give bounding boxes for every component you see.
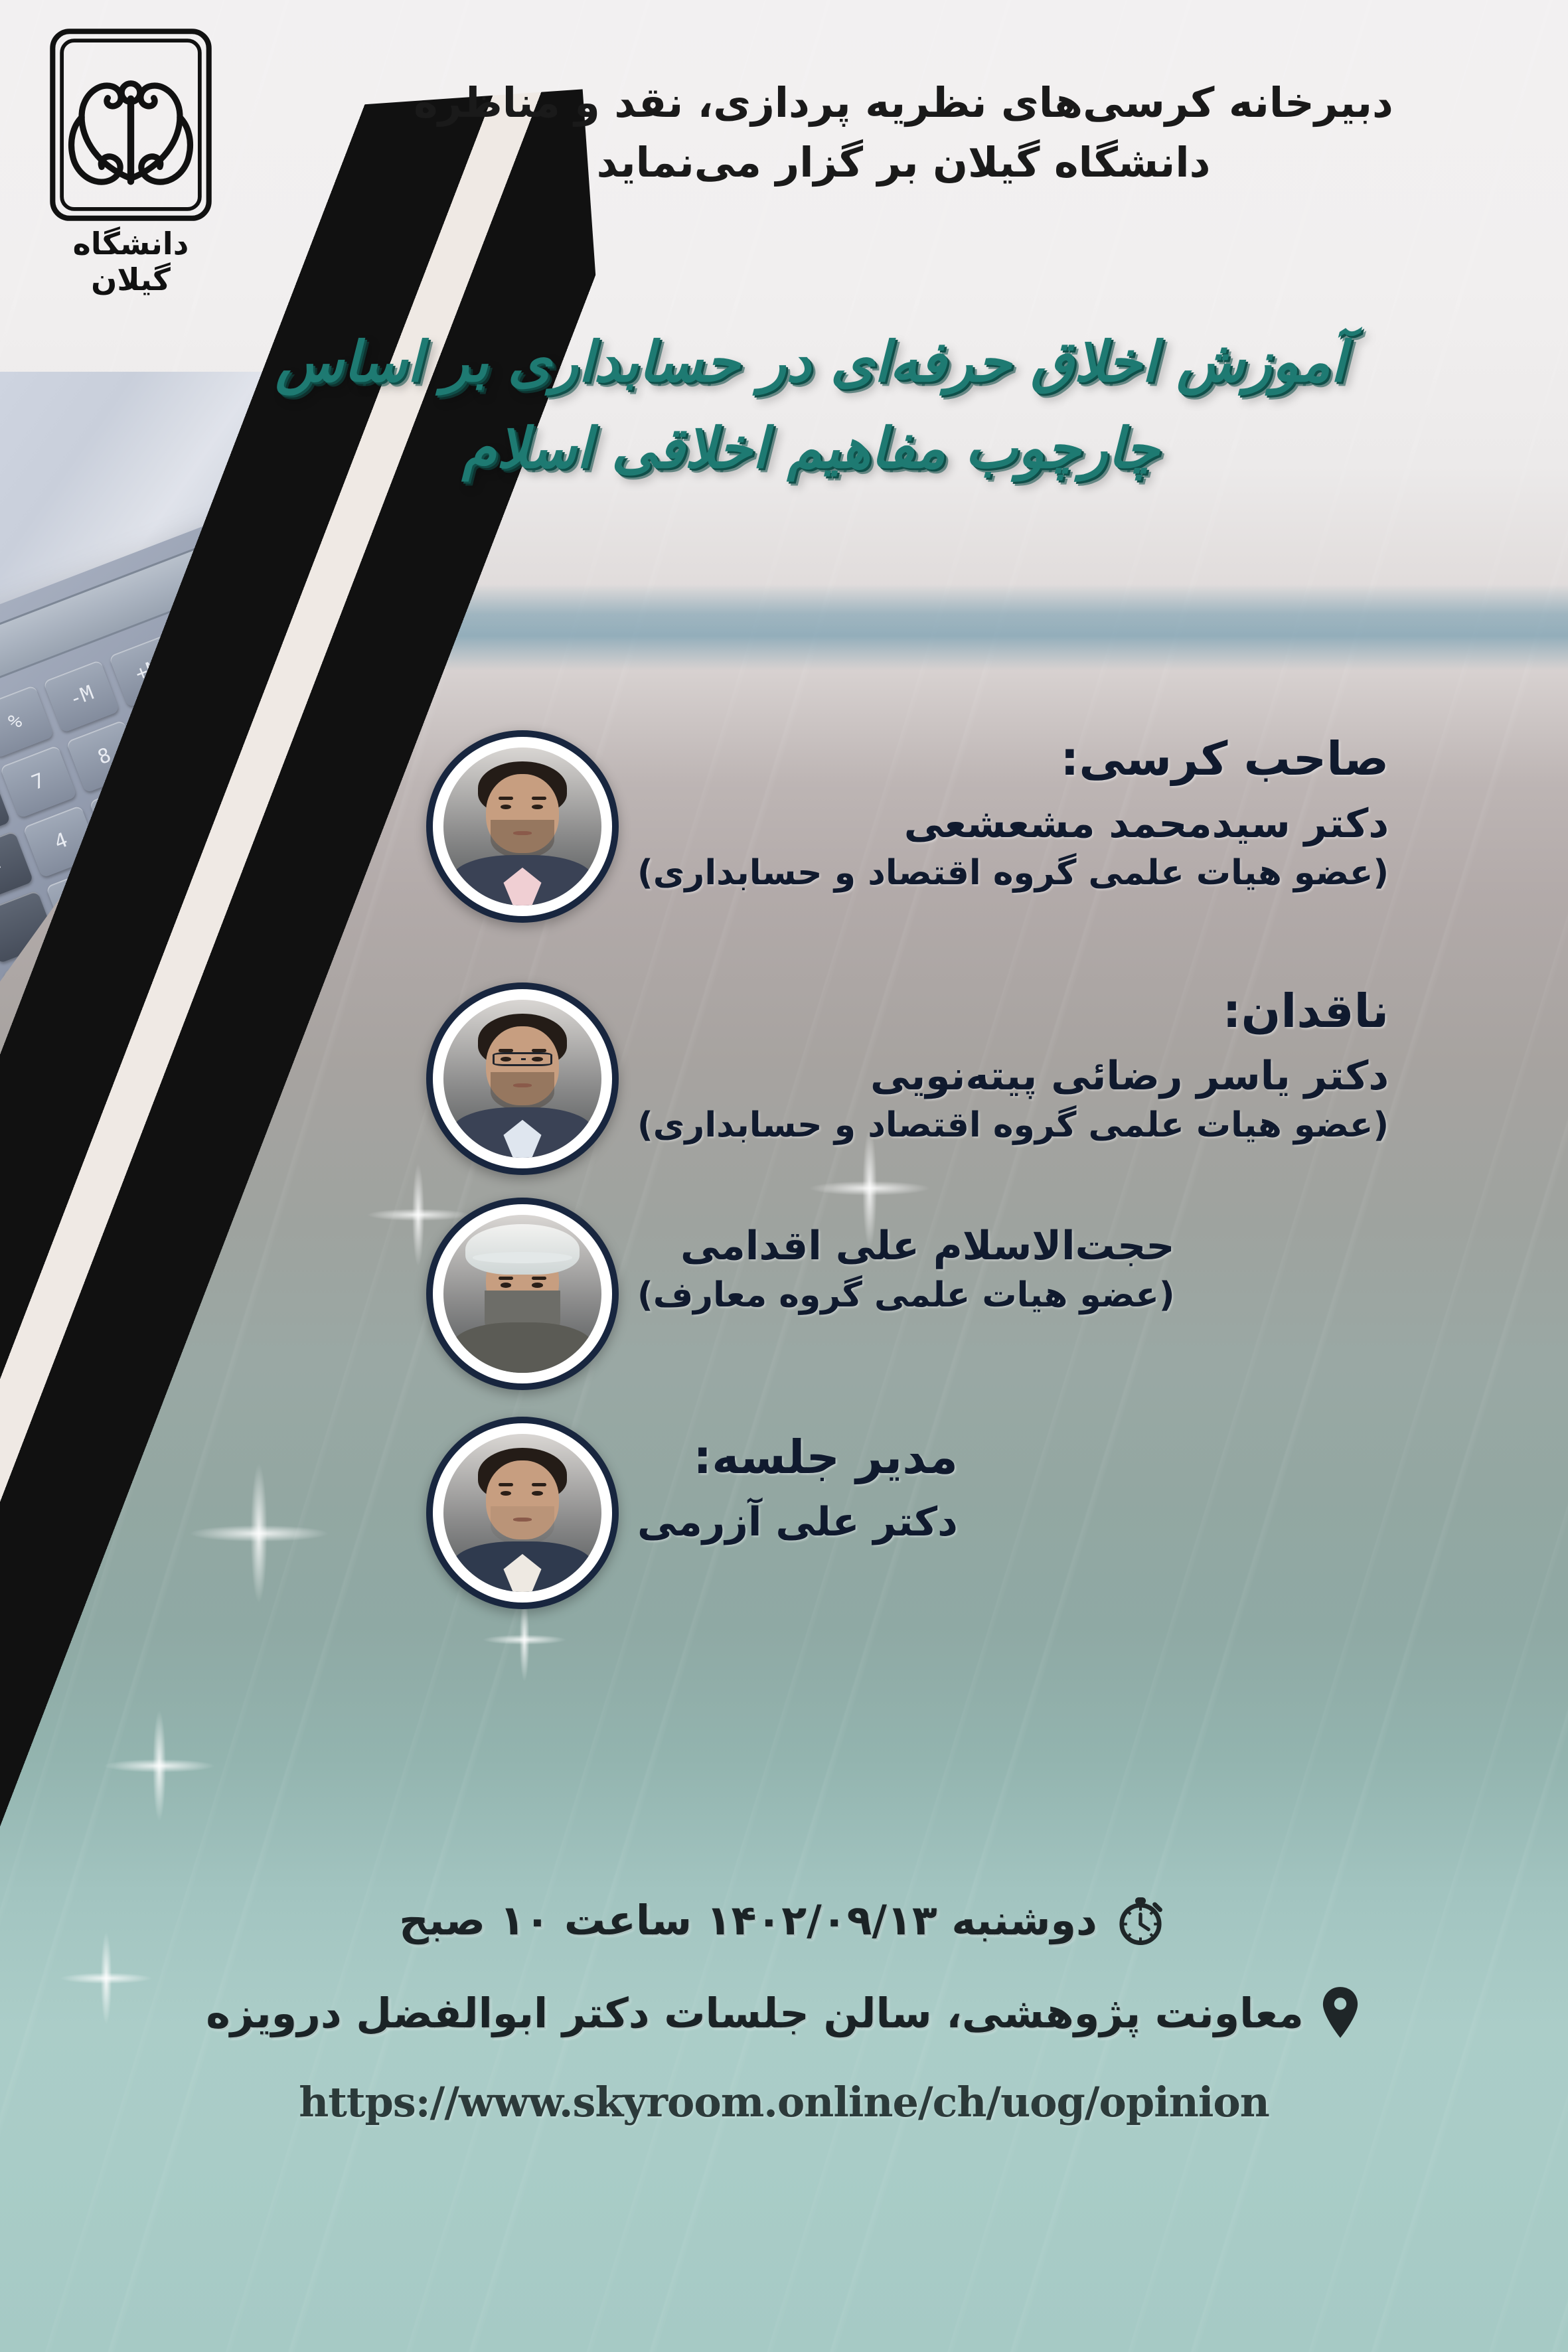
event-poster: +M+M-%÷-987×3654=210.00AC دانشگاه گیلان …: [0, 0, 1568, 2352]
person-name-critic-1: دکتر یاسر رضائی پیته‌نویی: [637, 1050, 1389, 1102]
university-logo: دانشگاه گیلان: [28, 25, 234, 297]
calculator-key: 6: [155, 754, 232, 828]
datetime-line: دوشنبه ۱۴۰۲/۰۹/۱۳ ساعت ۱۰ صبح: [0, 1892, 1568, 1949]
role-row-chair: صاحب کرسی: دکتر سیدمحمد مشعشعی (عضو هیات…: [426, 730, 1528, 923]
avatar-critic-1: [426, 982, 619, 1175]
person-name-critic-2: حجت‌الاسلام علی اقدامی: [637, 1220, 1175, 1272]
role-row-moderator: مدیر جلسه: دکتر علی آزرمی: [426, 1417, 1528, 1609]
person-affiliation-critic-2: (عضو هیات علمی گروه معارف): [637, 1272, 1175, 1318]
calculator-key: 2: [178, 814, 255, 888]
person-affiliation-chair: (عضو هیات علمی گروه اقتصاد و حسابداری): [637, 850, 1389, 896]
calculator-key: [3, 951, 80, 1024]
title-line-2: چارچوب مفاهیم اخلاقی اسلام: [119, 405, 1502, 491]
university-of-gilan-emblem-icon: [44, 25, 217, 224]
calculator-key: 3: [221, 729, 298, 803]
calculator-key: 0: [46, 865, 123, 939]
header-text: دبیرخانه کرسی‌های نظریه پردازی، نقد و من…: [299, 73, 1508, 193]
calculator-key: 5: [89, 779, 166, 853]
avatar-chair: [426, 730, 619, 923]
person-name-moderator: دکتر علی آزرمی: [637, 1496, 958, 1548]
calculator-key: M+: [109, 634, 186, 708]
calculator-key: 4: [23, 805, 100, 879]
calculator-key: [244, 789, 321, 862]
role-label-chair: صاحب کرسی:: [637, 730, 1389, 789]
role-row-critics: ناقدان: دکتر یاسر رضائی پیته‌نویی (عضو ه…: [426, 982, 1528, 1175]
event-url[interactable]: https://www.skyroom.online/ch/uog/opinio…: [0, 2078, 1568, 2126]
calculator-key: [0, 890, 56, 964]
calculator-key: %: [0, 685, 54, 759]
logo-caption: دانشگاه گیلان: [28, 226, 234, 297]
person-affiliation-critic-1: (عضو هیات علمی گروه اقتصاد و حسابداری): [637, 1102, 1389, 1148]
sparkle-decoration: [159, 1434, 358, 1633]
calculator-key: 8: [66, 720, 143, 793]
page-title: آموزش اخلاق حرفه‌ای در حسابداری بر اساس …: [119, 319, 1502, 491]
calculator-key: +: [175, 609, 252, 682]
role-label-moderator: مدیر جلسه:: [637, 1429, 958, 1487]
people-list: صاحب کرسی: دکتر سیدمحمد مشعشعی (عضو هیات…: [426, 730, 1528, 1632]
stopwatch-icon: [1112, 1892, 1169, 1949]
event-location: معاونت پژوهشی، سالن جلسات دکتر ابوالفضل …: [206, 1986, 1304, 2041]
calculator-key: [268, 849, 345, 923]
role-label-critics: ناقدان:: [637, 982, 1389, 1041]
calculator-key: 9: [132, 694, 209, 768]
header-line-1: دبیرخانه کرسی‌های نظریه پردازی، نقد و من…: [299, 73, 1508, 133]
calculator-key: AC: [68, 925, 145, 998]
person-name-chair: دکتر سیدمحمد مشعشعی: [637, 798, 1389, 850]
avatar-moderator: [426, 1417, 619, 1609]
sparkle-decoration: [80, 1686, 239, 1845]
header-line-2: دانشگاه گیلان بر گزار می‌نماید: [299, 133, 1508, 193]
calculator-key: 1: [112, 840, 189, 913]
footer-info: دوشنبه ۱۴۰۲/۰۹/۱۳ ساعت ۱۰ صبح معاونت پژو…: [0, 1892, 1568, 2126]
location-pin-icon: [1318, 1985, 1362, 2042]
role-row-critic-2: حجت‌الاسلام علی اقدامی (عضو هیات علمی گر…: [426, 1198, 1528, 1390]
avatar-critic-2: [426, 1198, 619, 1390]
title-line-1: آموزش اخلاق حرفه‌ای در حسابداری بر اساس: [119, 319, 1502, 405]
calculator-key: M-: [42, 660, 119, 734]
event-datetime: دوشنبه ۱۴۰۲/۰۹/۱۳ ساعت ۱۰ صبح: [399, 1893, 1097, 1948]
calculator-key: 00: [135, 900, 212, 973]
location-line: معاونت پژوهشی، سالن جلسات دکتر ابوالفضل …: [0, 1985, 1568, 2042]
calculator-key: .: [201, 874, 278, 948]
calculator-key: -: [198, 668, 275, 742]
calculator-key: 7: [0, 745, 77, 819]
